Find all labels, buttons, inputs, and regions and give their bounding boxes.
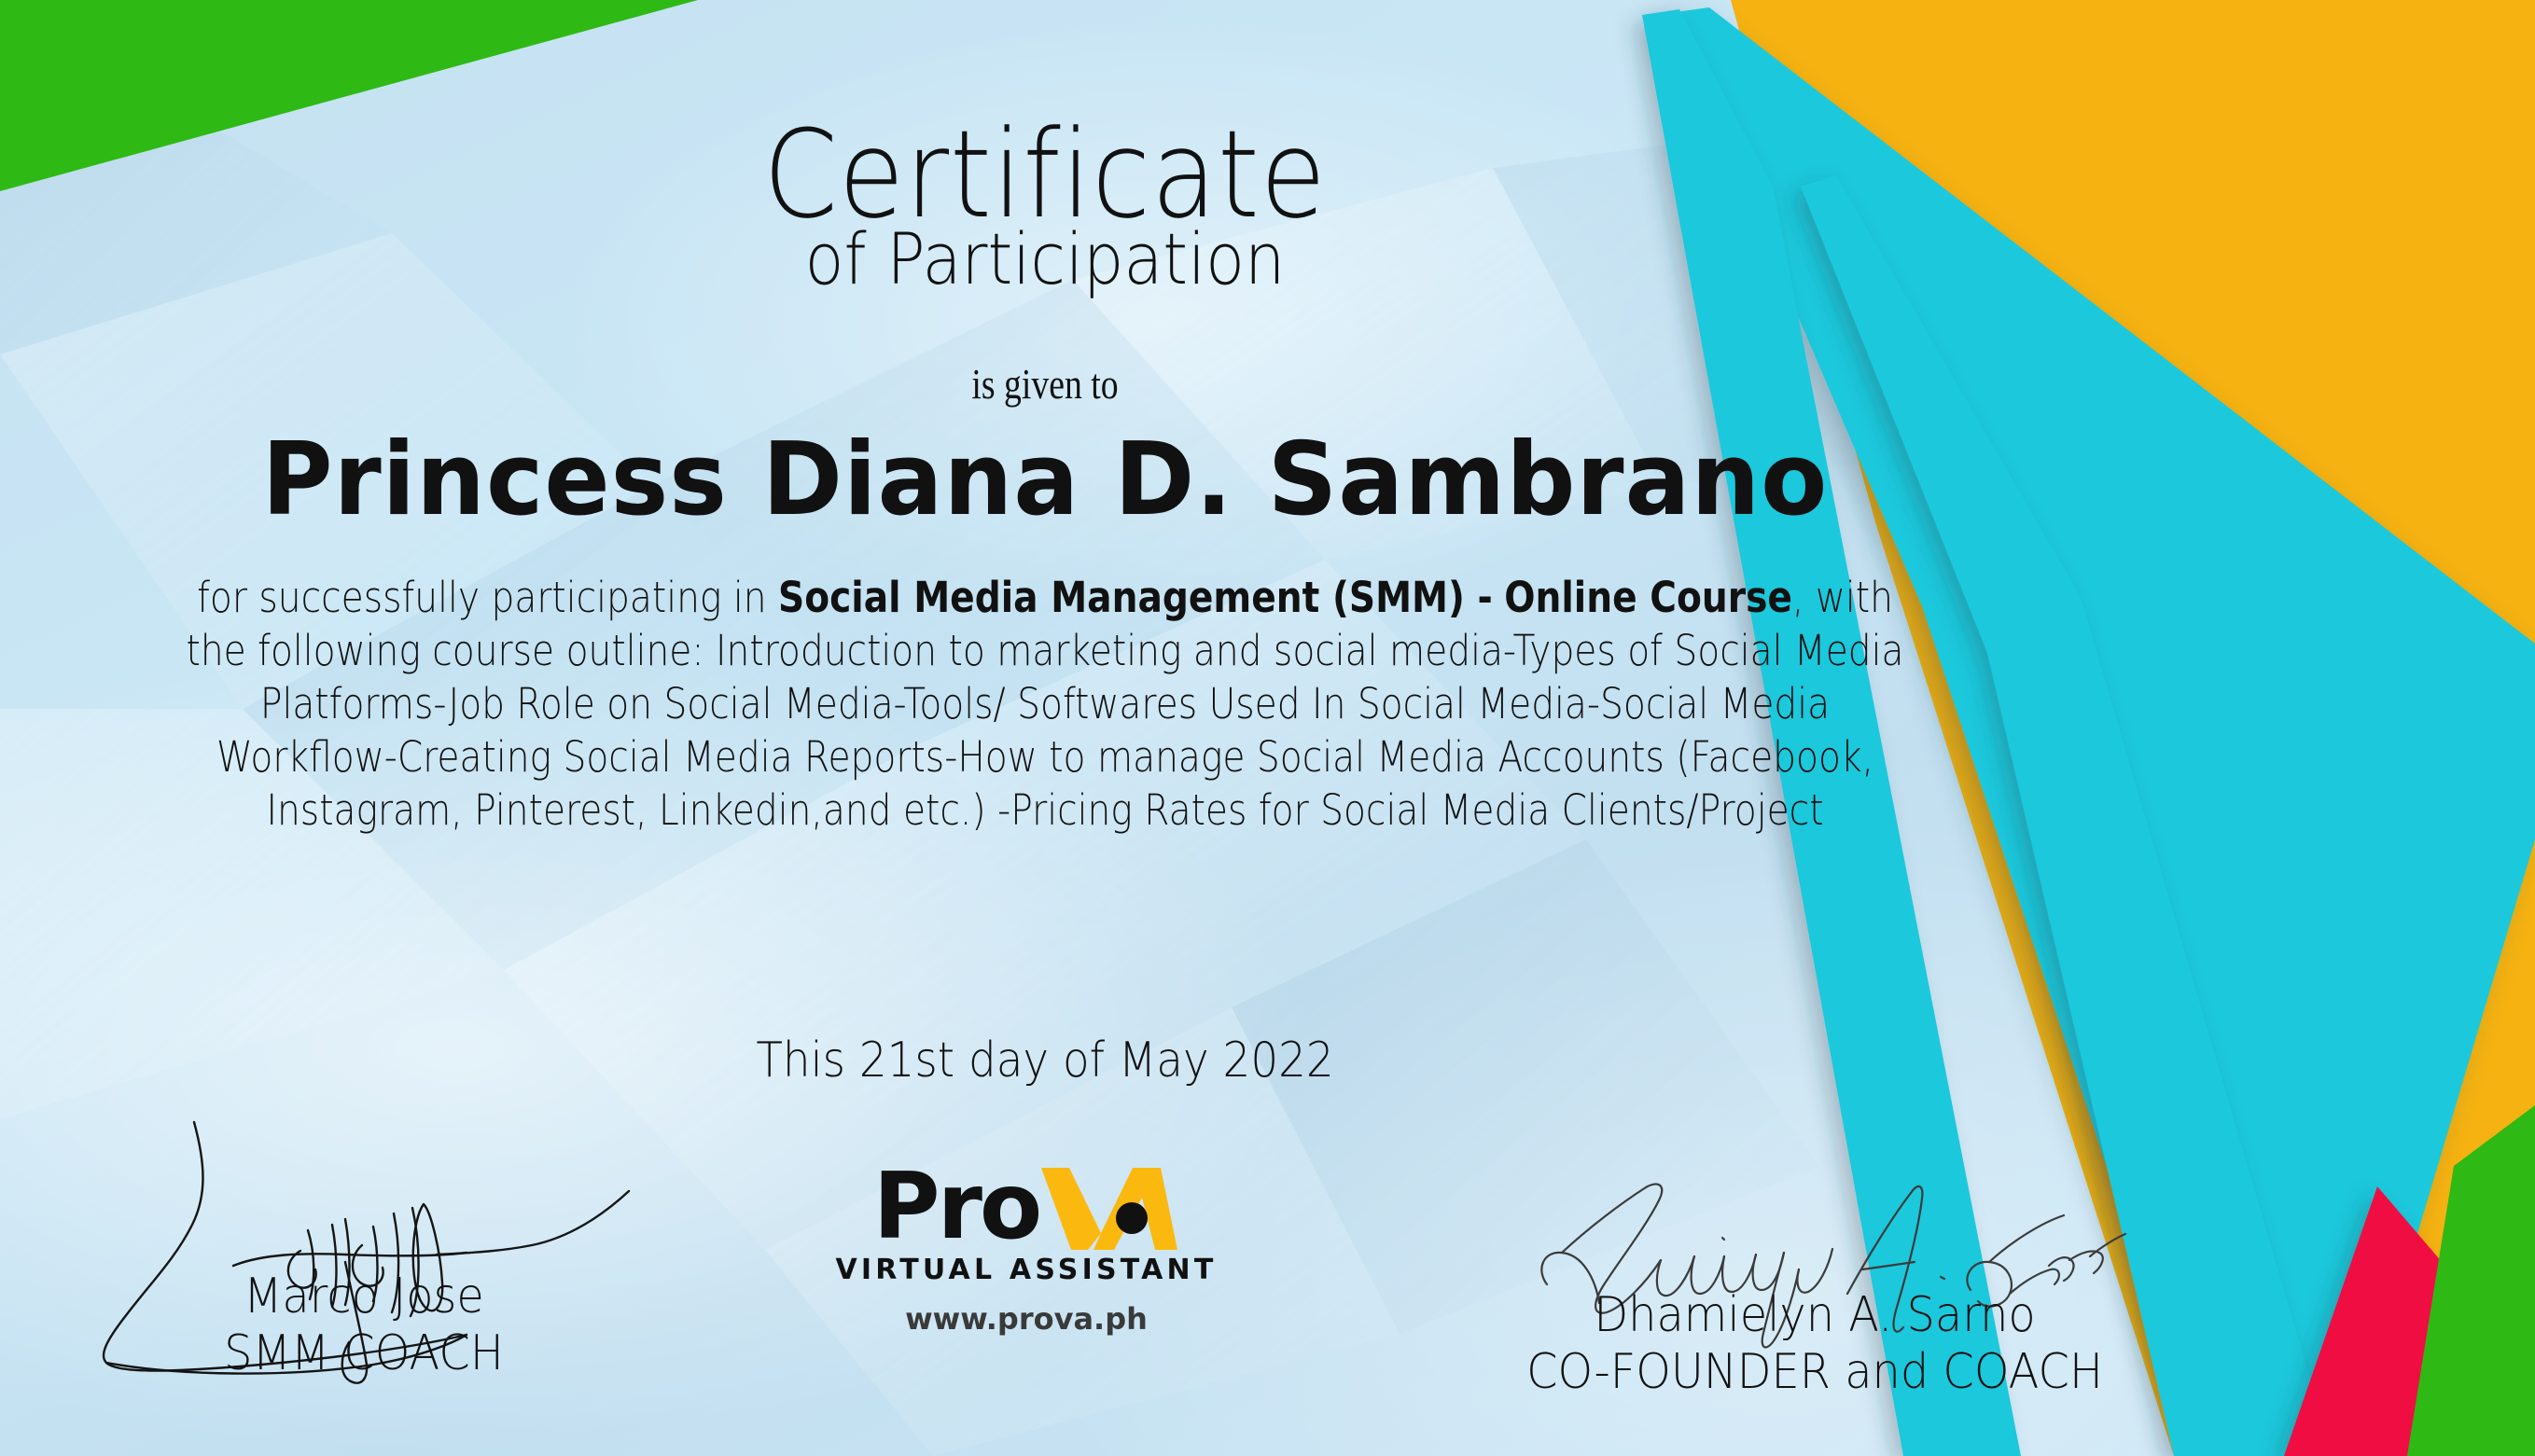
certificate-content: Certificate of Participation is given to…: [0, 0, 2090, 1456]
logo-va-mark: [1039, 1164, 1179, 1250]
prova-logo: Pro VIRTUAL ASSISTANT www.prova.ph: [830, 1164, 1222, 1337]
logo-website-url: www.prova.ph: [830, 1301, 1222, 1337]
course-name-line2: Online Course: [1504, 573, 1792, 622]
date-line: This 21st day of May 2022: [104, 1033, 1985, 1089]
signatory-name-right: Dhamielyn A. Sarno: [1501, 1287, 2128, 1343]
logo-word-pro: Pro: [873, 1154, 1039, 1260]
signature-block-left: Marco Jose SMM COACH: [84, 1269, 644, 1382]
course-name-line1: Social Media Management (SMM) -: [778, 573, 1493, 622]
page-subtitle: of Participation: [104, 224, 1985, 295]
logo-tagline: VIRTUAL ASSISTANT: [830, 1254, 1222, 1286]
body-intro: for successfully participating in: [197, 573, 778, 622]
recipient-name: Princess Diana D. Sambrano: [42, 422, 2048, 538]
signature-block-right: Dhamielyn A. Sarno CO-FOUNDER and COACH: [1474, 1287, 2155, 1401]
signatory-role-right: CO-FOUNDER and COACH: [1501, 1343, 2128, 1401]
logo-wordmark: Pro: [830, 1164, 1222, 1250]
certificate-canvas: Certificate of Participation is given to…: [0, 0, 2535, 1456]
signatory-role-left: SMM COACH: [106, 1324, 621, 1382]
logo-va-icon: [1039, 1164, 1179, 1250]
body-paragraph: for successfully participating in Social…: [168, 571, 1921, 837]
signatory-name-left: Marco Jose: [106, 1269, 621, 1324]
given-to-label: is given to: [188, 359, 1902, 409]
